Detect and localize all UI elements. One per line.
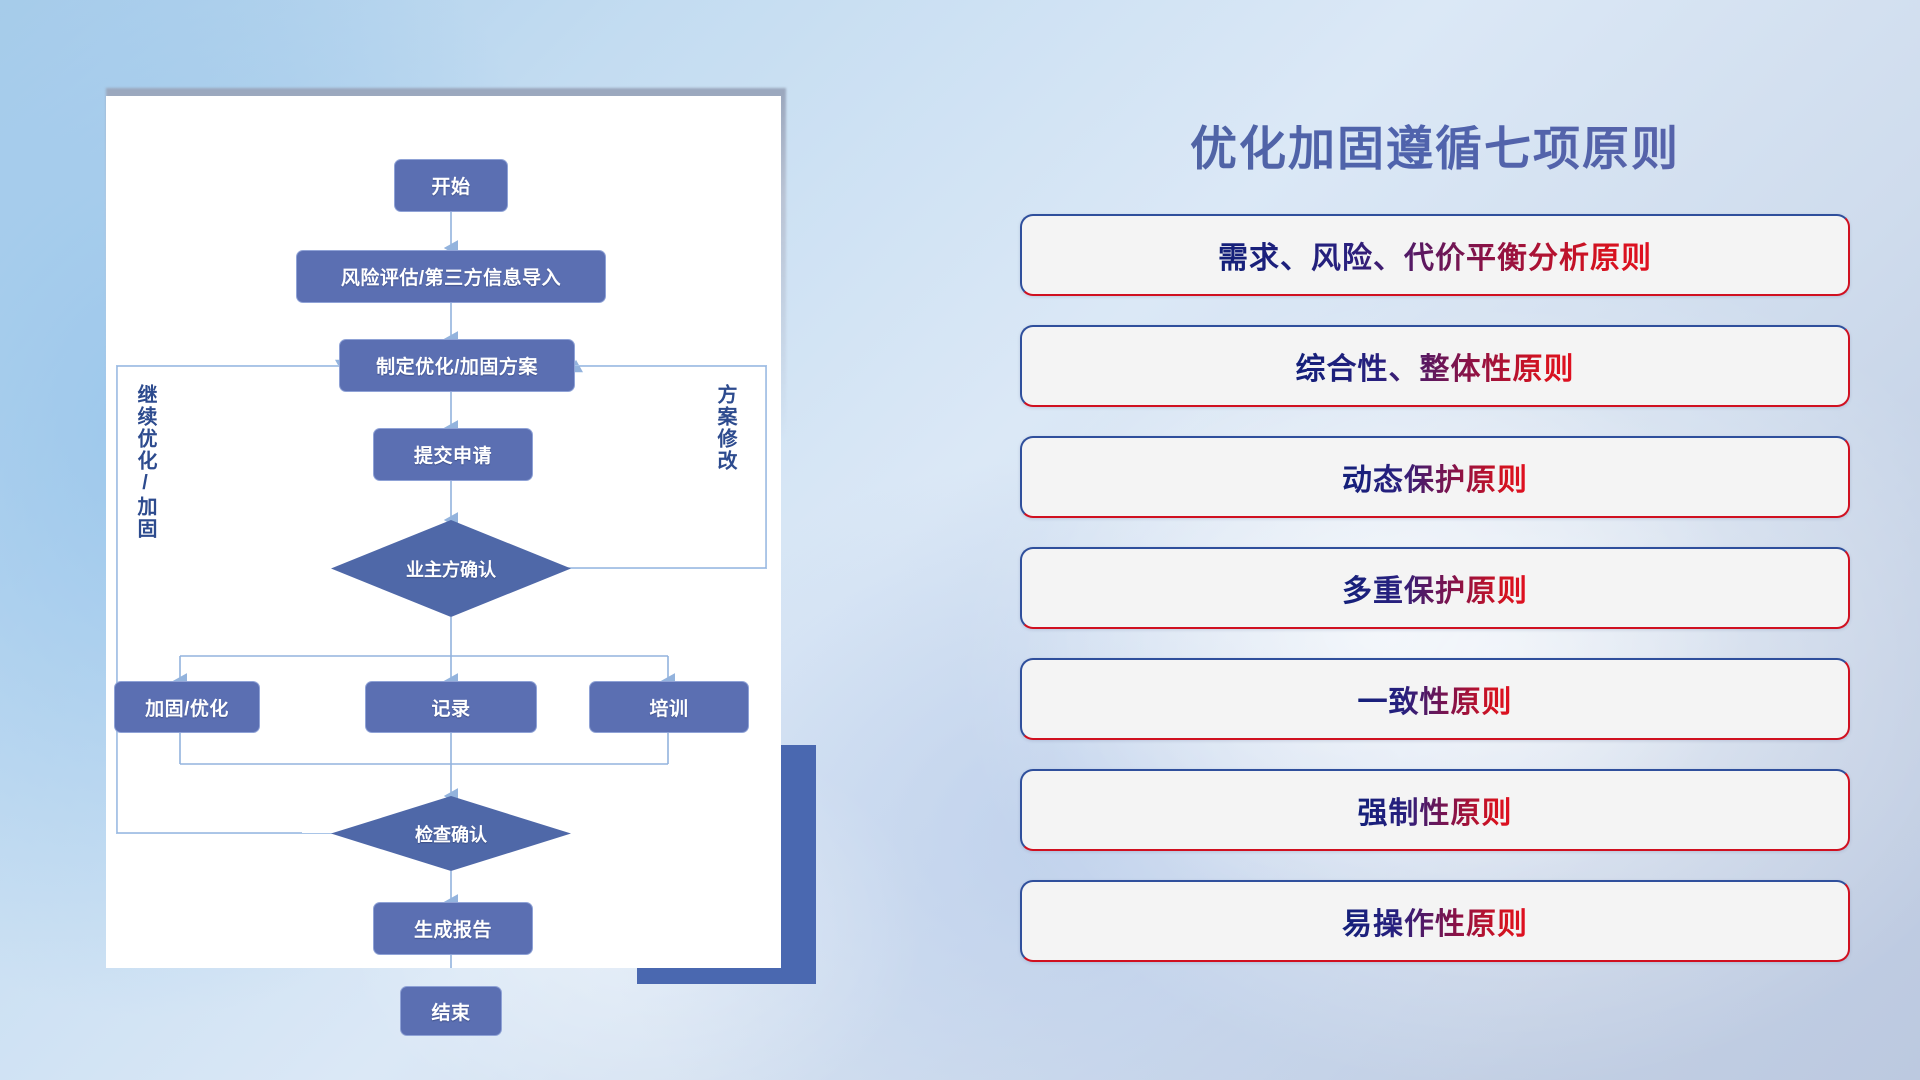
principle-card[interactable]: 易操作性原则 <box>1020 880 1850 962</box>
flow-node-start[interactable]: 开始 <box>394 159 508 212</box>
flow-node-generate-report[interactable]: 生成报告 <box>373 902 533 955</box>
flow-node-label: 提交申请 <box>414 441 492 468</box>
flowchart-panel: 开始 风险评估/第三方信息导入 制定优化/加固方案 提交申请 业主方确认 加固/… <box>106 96 781 968</box>
edge-label-plan-revision: 方案修改 <box>714 384 735 472</box>
principle-card[interactable]: 综合性、整体性原则 <box>1020 325 1850 407</box>
flow-node-label: 结束 <box>431 998 470 1025</box>
flow-node-label: 开始 <box>431 172 470 199</box>
principles-section: 优化加固遵循七项原则 需求、风险、代价平衡分析原则 综合性、整体性原则 动态保护… <box>1020 92 1850 1012</box>
flow-node-label: 制定优化/加固方案 <box>376 352 538 379</box>
principle-card[interactable]: 多重保护原则 <box>1020 547 1850 629</box>
principle-label: 易操作性原则 <box>1342 899 1528 943</box>
flow-node-label: 培训 <box>649 694 688 721</box>
principle-card[interactable]: 一致性原则 <box>1020 658 1850 740</box>
principle-card[interactable]: 需求、风险、代价平衡分析原则 <box>1020 214 1850 296</box>
principles-title: 优化加固遵循七项原则 <box>1020 110 1850 179</box>
principle-label: 强制性原则 <box>1358 788 1513 832</box>
flow-node-training[interactable]: 培训 <box>589 681 749 733</box>
flow-node-label: 风险评估/第三方信息导入 <box>341 263 561 290</box>
principle-label: 需求、风险、代价平衡分析原则 <box>1218 233 1652 277</box>
flow-node-label: 检查确认 <box>415 821 487 847</box>
flow-node-label: 生成报告 <box>414 915 492 942</box>
flow-node-make-plan[interactable]: 制定优化/加固方案 <box>339 339 575 392</box>
flow-node-label: 记录 <box>431 694 470 721</box>
principles-list: 需求、风险、代价平衡分析原则 综合性、整体性原则 动态保护原则 多重保护原则 一… <box>1020 214 1850 991</box>
flow-node-reinforce-optimize[interactable]: 加固/优化 <box>114 681 260 733</box>
principle-label: 一致性原则 <box>1358 677 1513 721</box>
edge-label-continue-optimize: 继续优化/加固 <box>134 384 155 540</box>
flow-node-risk-assessment[interactable]: 风险评估/第三方信息导入 <box>296 250 606 303</box>
flow-node-label: 业主方确认 <box>406 556 496 582</box>
flow-node-submit-application[interactable]: 提交申请 <box>373 428 533 481</box>
flow-node-label: 加固/优化 <box>145 694 229 721</box>
principle-label: 综合性、整体性原则 <box>1296 344 1575 388</box>
flow-node-end[interactable]: 结束 <box>400 986 502 1036</box>
flow-node-record[interactable]: 记录 <box>365 681 537 733</box>
principle-label: 动态保护原则 <box>1342 455 1528 499</box>
principle-card[interactable]: 强制性原则 <box>1020 769 1850 851</box>
principle-label: 多重保护原则 <box>1342 566 1528 610</box>
principle-card[interactable]: 动态保护原则 <box>1020 436 1850 518</box>
